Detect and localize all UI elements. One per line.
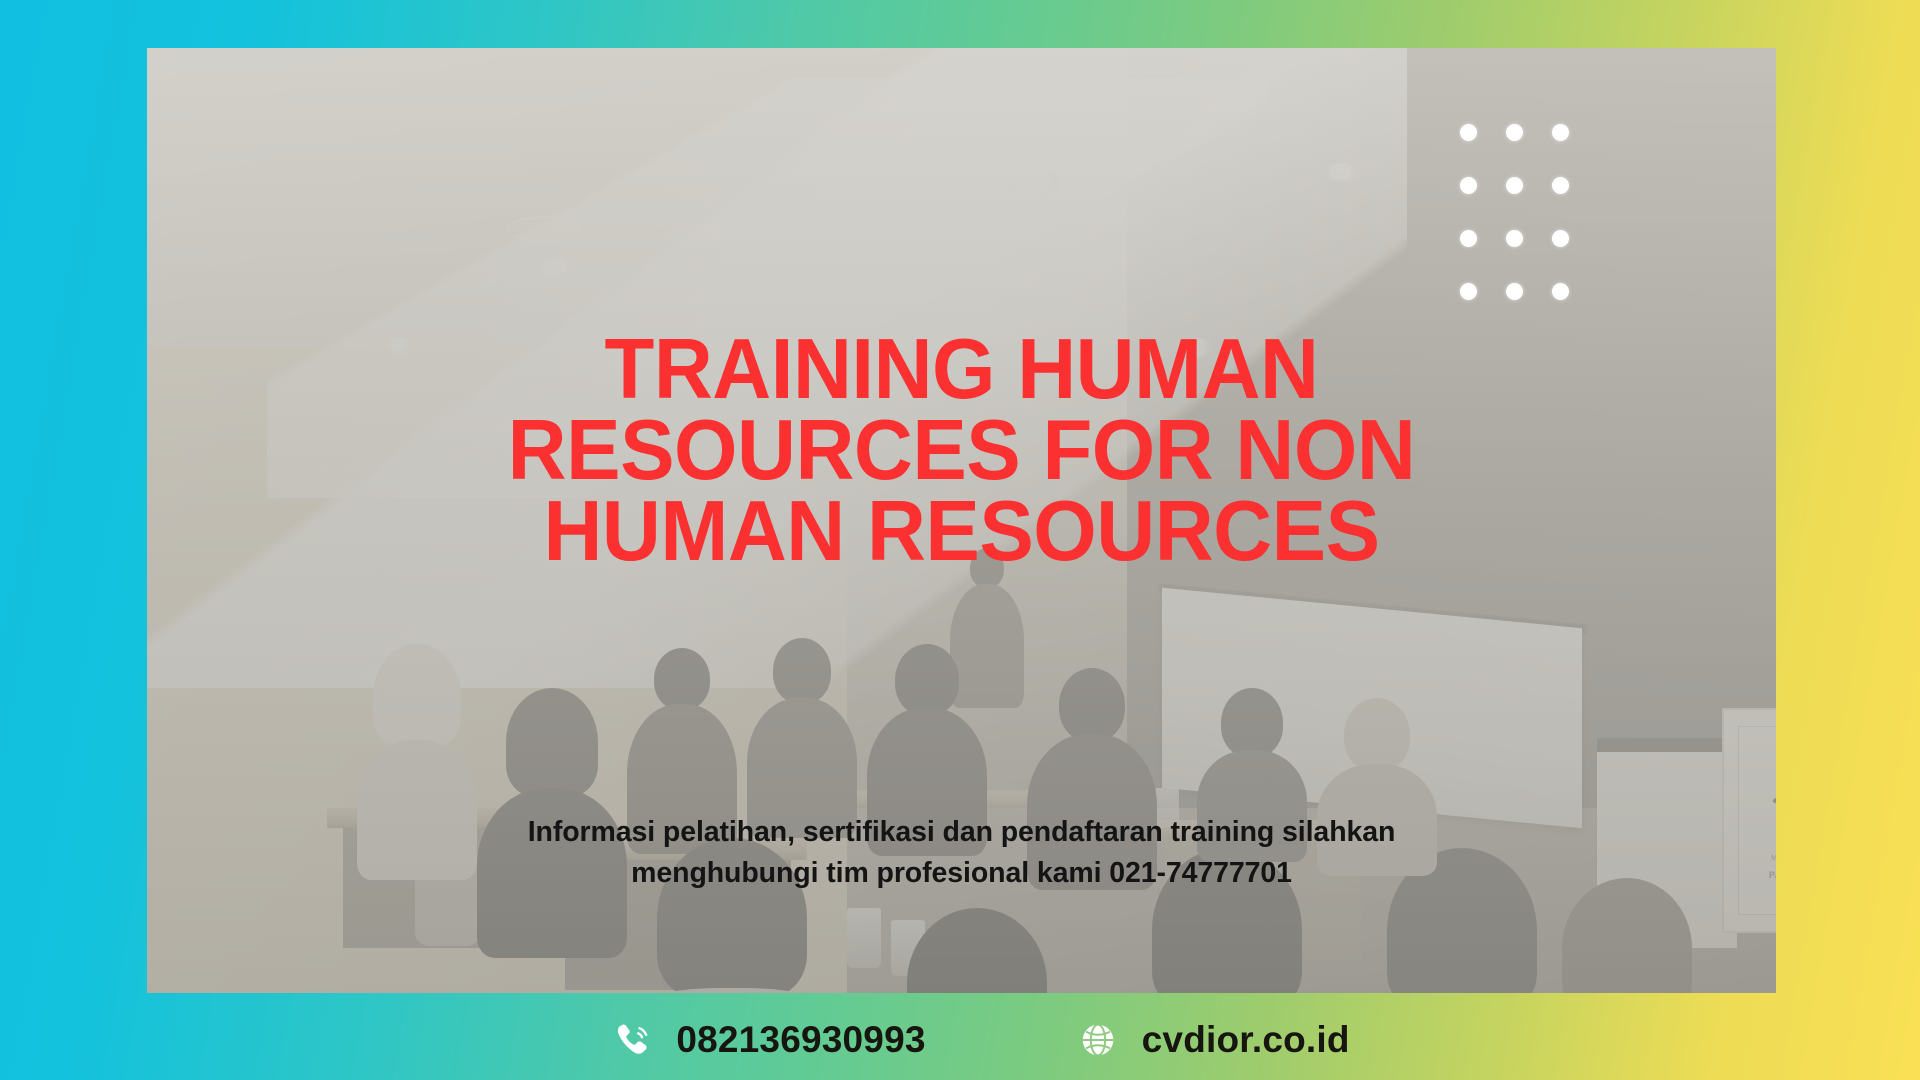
decorative-dot	[1506, 230, 1523, 247]
decorative-dot	[1552, 283, 1569, 300]
decorative-dot	[1506, 124, 1523, 141]
footer-website[interactable]: cvdior.co.id	[1076, 1018, 1350, 1062]
globe-icon	[1076, 1018, 1120, 1062]
subtitle-contact-info: Informasi pelatihan, sertifikasi dan pen…	[147, 812, 1776, 895]
decorative-dot	[1506, 177, 1523, 194]
decorative-dot	[1552, 124, 1569, 141]
decorative-dot	[1552, 177, 1569, 194]
decorative-dot	[1552, 230, 1569, 247]
decorative-dot	[1460, 177, 1477, 194]
phone-number: 082136930993	[676, 1019, 925, 1061]
page-title: TRAINING HUMAN RESOURCES FOR NON HUMAN R…	[180, 330, 1744, 572]
decorative-dot	[1460, 283, 1477, 300]
footer-contact-bar: 082136930993 cvdior.co.id	[0, 1000, 1920, 1080]
decorative-dot	[1460, 230, 1477, 247]
decorative-dot	[1460, 124, 1477, 141]
phone-ringing-icon	[610, 1018, 654, 1062]
footer-phone[interactable]: 082136930993	[610, 1018, 925, 1062]
poster-canvas: RED WIFI Meeting Room PASSWORD meetingre…	[0, 0, 1920, 1080]
decorative-dot	[1506, 283, 1523, 300]
dot-grid-decoration	[1460, 124, 1569, 302]
website-url: cvdior.co.id	[1142, 1019, 1350, 1061]
